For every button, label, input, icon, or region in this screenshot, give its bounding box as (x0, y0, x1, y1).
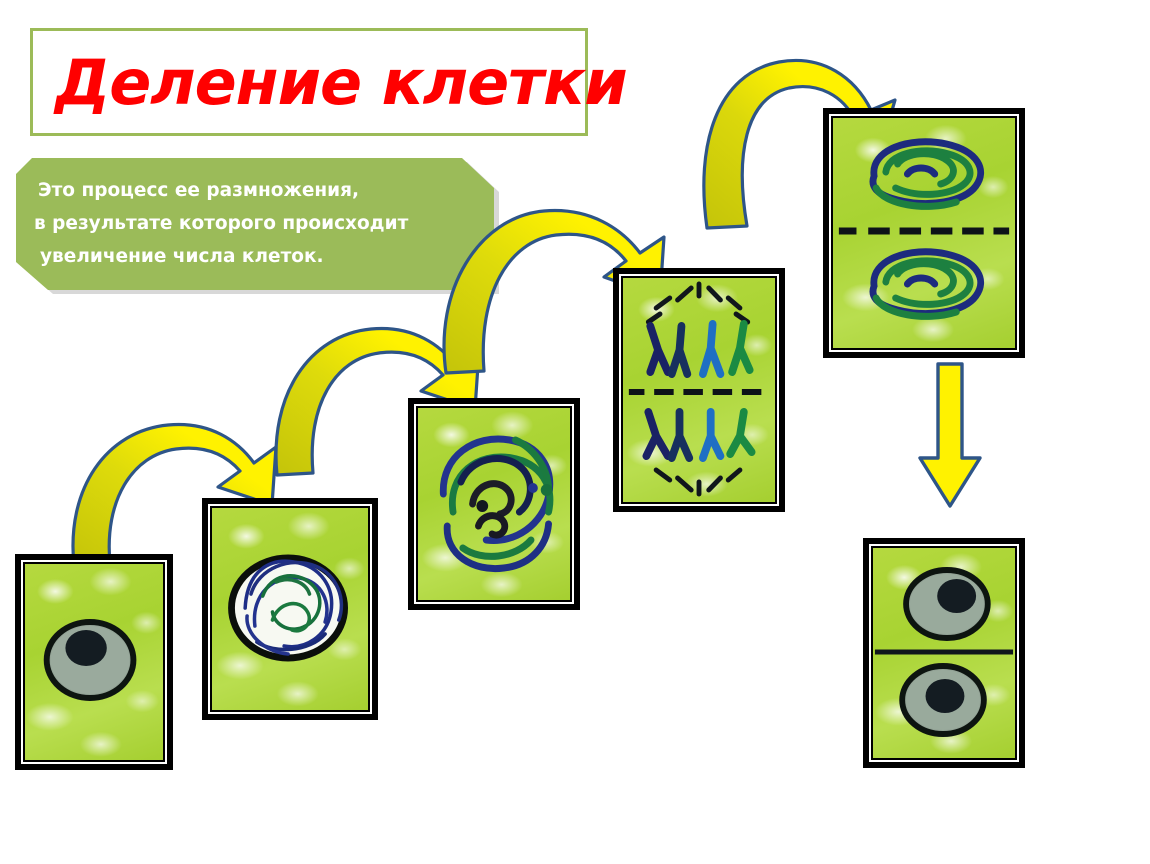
caption-line-2: в результате которого происходит (34, 207, 484, 240)
cell-metaphase-condensation[interactable] (408, 398, 580, 610)
frame-inner-border (869, 544, 1019, 762)
caption-text: Это процесс ее размножения, в результате… (16, 158, 494, 290)
cell-photo-telophase (833, 118, 1015, 348)
cell-anaphase[interactable] (613, 268, 785, 512)
caption-line-3: увеличение числа клеток. (40, 240, 484, 273)
page-title: Деление клетки (55, 39, 627, 127)
arrow-cell5-to-cell6 (912, 362, 988, 510)
cell-interphase[interactable] (15, 554, 173, 770)
cell-photo-daughters (873, 548, 1015, 758)
frame-inner-border (414, 404, 574, 604)
cell-photo-interphase (25, 564, 163, 760)
cell-photo-anaphase (623, 278, 775, 502)
cell-prophase[interactable] (202, 498, 378, 720)
frame-inner-border (208, 504, 372, 714)
frame-inner-border (619, 274, 779, 506)
cell-photo-condensation (418, 408, 570, 600)
slide-canvas: Деление клетки Это процесс ее размножени… (0, 0, 1150, 864)
frame-inner-border (21, 560, 167, 764)
cell-photo-prophase (212, 508, 368, 710)
cell-two-daughter-cells[interactable] (863, 538, 1025, 768)
title-box: Деление клетки (30, 28, 588, 136)
caption-line-1: Это процесс ее размножения, (38, 174, 484, 207)
cell-telophase[interactable] (823, 108, 1025, 358)
frame-inner-border (829, 114, 1019, 352)
